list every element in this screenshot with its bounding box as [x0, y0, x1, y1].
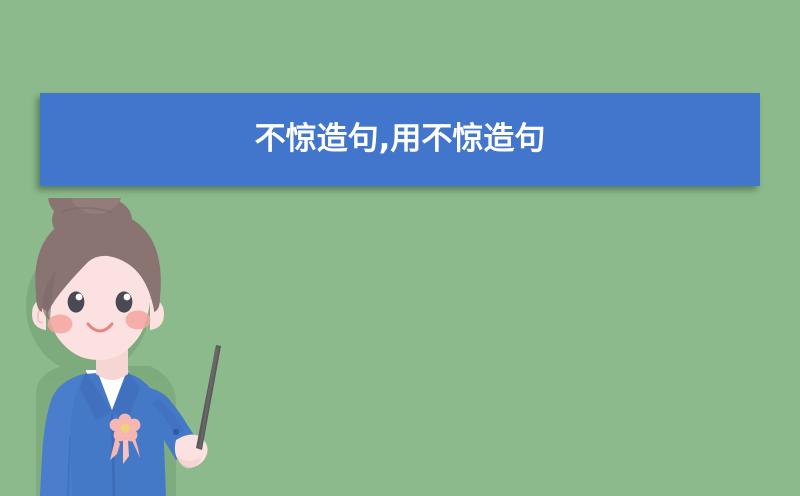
blush-left	[48, 315, 73, 334]
eye-right	[116, 291, 133, 312]
teacher-illustration	[0, 198, 260, 496]
eye-left-highlight	[76, 294, 83, 301]
title-banner: 不惊造句,用不惊造句	[40, 93, 760, 186]
eye-right-highlight	[124, 294, 131, 301]
teacher-illustration-svg	[0, 198, 260, 496]
cuff-button-upper	[173, 429, 179, 435]
page-root: 不惊造句,用不惊造句	[0, 0, 800, 496]
eye-left	[68, 291, 85, 312]
blush-right	[126, 311, 151, 330]
page-title: 不惊造句,用不惊造句	[255, 124, 546, 155]
badge-center	[120, 423, 129, 432]
pointer-stick-highlight	[199, 347, 219, 448]
